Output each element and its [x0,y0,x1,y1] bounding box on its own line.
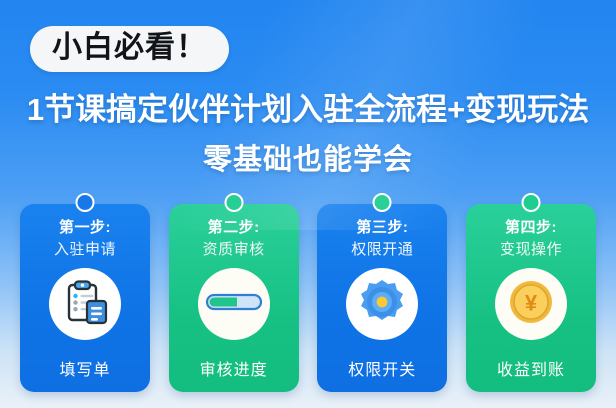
step-title-1: 第一步: [59,219,111,238]
step-node-icon-1 [76,193,95,212]
step-title-3: 第三步: [356,219,408,238]
step-icon-wrap-1 [49,268,121,340]
step-footer-2: 审核进度 [169,356,299,380]
step-title-2: 第二步: [208,219,260,238]
progress-bar-icon [205,288,263,321]
step-card-3[interactable]: 第三步: 权限开通 权限开关 [317,204,447,392]
step-card-1[interactable]: 第一步: 入驻申请 [20,204,150,392]
step-node-icon-3 [373,193,392,212]
step-node-icon-2 [224,193,243,212]
step-footer-3: 权限开关 [317,356,447,380]
step-footer-1: 填写单 [20,356,150,380]
step-icon-wrap-3 [346,268,418,340]
step-icon-wrap-4: ¥ [495,268,567,340]
step-name-1: 入驻申请 [54,240,116,260]
step-node-icon-4 [521,193,540,212]
gear-settings-icon [357,277,407,332]
step-icon-wrap-2 [198,268,270,340]
promo-poster: 小白必看！ 1节课搞定伙伴计划入驻全流程+变现玩法 零基础也能学会 第一步: 入… [0,0,616,408]
step-footer-4: 收益到账 [466,356,596,380]
svg-text:¥: ¥ [525,290,538,315]
yen-coin-icon: ¥ [507,278,555,331]
clipboard-form-icon [59,276,111,333]
step-name-4: 变现操作 [500,240,562,260]
step-name-2: 资质审核 [203,240,265,260]
step-title-4: 第四步: [505,219,557,238]
step-name-3: 权限开通 [351,240,413,260]
badge-must-read: 小白必看！ [30,26,229,72]
page-title: 1节课搞定伙伴计划入驻全流程+变现玩法 [0,92,616,128]
steps-row: 第一步: 入驻申请 [20,204,596,394]
page-subtitle: 零基础也能学会 [0,144,616,177]
step-card-2[interactable]: 第二步: 资质审核 审核进度 [169,204,299,392]
step-card-4[interactable]: 第四步: 变现操作 ¥ 收益到账 [466,204,596,392]
